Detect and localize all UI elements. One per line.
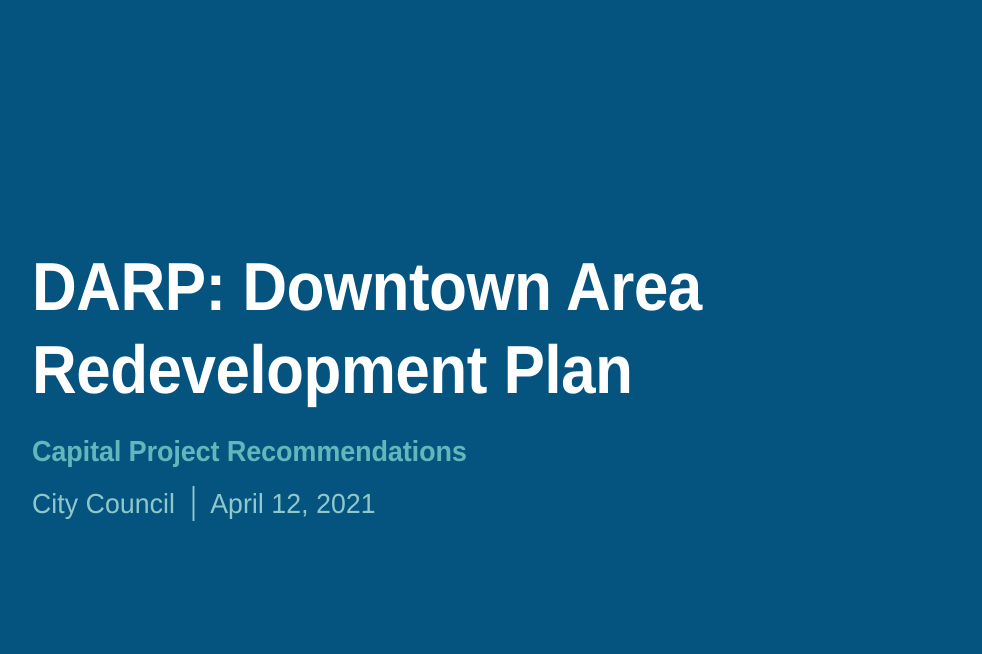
meta-divider — [192, 486, 194, 521]
presentation-date: April 12, 2021 — [210, 487, 375, 521]
presenter-label: City Council — [32, 487, 175, 521]
slide-meta-line: City Council April 12, 2021 — [32, 469, 849, 521]
slide-subtitle: Capital Project Recommendations — [32, 412, 832, 469]
page-title: DARP: Downtown Area Redevelopment Plan — [32, 246, 815, 412]
title-slide: DARP: Downtown Area Redevelopment Plan C… — [0, 0, 982, 654]
slide-content-block: DARP: Downtown Area Redevelopment Plan C… — [32, 246, 892, 521]
